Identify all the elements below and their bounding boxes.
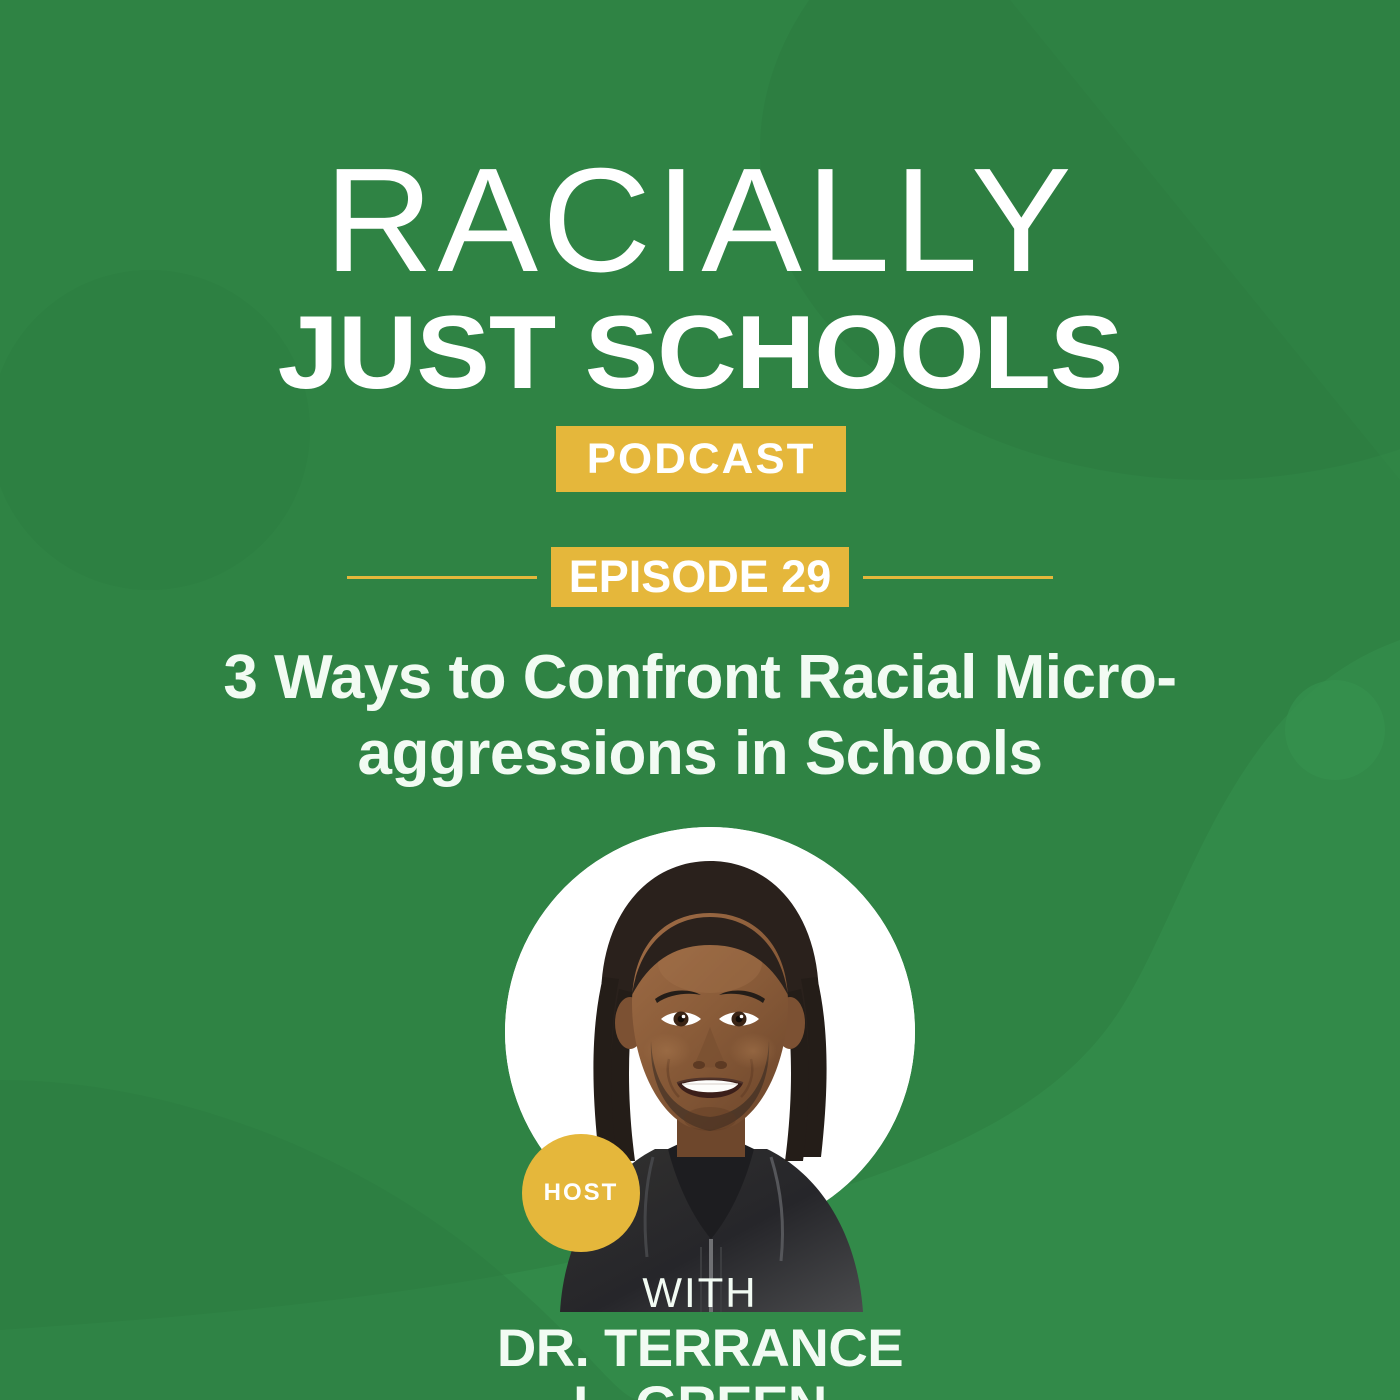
brand-wordmark: RACIALLY JUST SCHOOLS <box>0 150 1400 406</box>
episode-title: 3 Ways to Confront Racial Micro- aggress… <box>130 640 1270 791</box>
host-name-line-1: DR. TERRANCE <box>497 1319 903 1378</box>
episode-badge-label: EPISODE 29 <box>569 551 832 603</box>
host-with-label: WITH <box>0 1272 1400 1314</box>
host-name: DR. TERRANCE L. GREEN <box>0 1320 1400 1400</box>
circle-small-right <box>1285 680 1385 780</box>
podcast-badge-label: PODCAST <box>587 435 816 484</box>
host-badge-label: HOST <box>544 1179 619 1207</box>
brand-line-racially: RACIALLY <box>0 150 1400 292</box>
brand-line-just-schools: JUST SCHOOLS <box>0 300 1400 406</box>
episode-badge-row: EPISODE 29 <box>0 547 1400 607</box>
podcast-cover-art: RACIALLY JUST SCHOOLS PODCAST EPISODE 29… <box>0 0 1400 1400</box>
host-name-block: WITH DR. TERRANCE L. GREEN <box>0 1272 1400 1400</box>
podcast-badge: PODCAST <box>556 426 846 492</box>
episode-title-line-2: aggressions in Schools <box>358 719 1043 788</box>
host-name-line-2: L. GREEN <box>573 1376 827 1400</box>
episode-rule-left <box>347 576 537 579</box>
episode-badge: EPISODE 29 <box>551 547 850 607</box>
episode-title-line-1: 3 Ways to Confront Racial Micro- <box>223 643 1176 712</box>
host-badge: HOST <box>522 1134 640 1252</box>
episode-rule-right <box>863 576 1053 579</box>
